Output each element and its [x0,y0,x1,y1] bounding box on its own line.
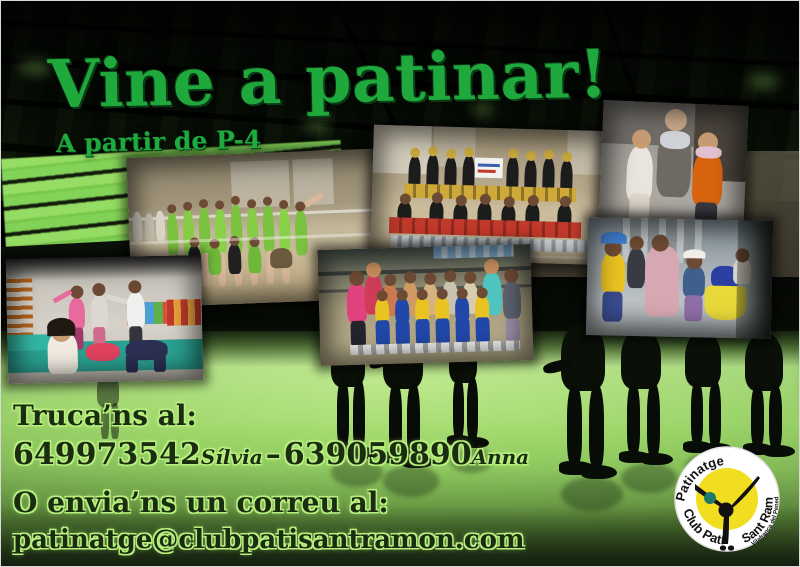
contact-block: Truca’ns al: 649973542Sílvia–639059890An… [13,399,533,557]
logo-teal-dot [704,492,716,504]
phone-numbers-line: 649973542Sílvia–639059890Anna [13,435,533,477]
photo-adult-two-children [598,100,748,232]
club-logo-svg: Patinatge Club Patí Sant Ramon Vilafranc… [668,440,786,558]
poster-root: Vine a patinar! A partir de P-4 Truca’ns… [0,0,800,567]
phone-label: Truca’ns al: [13,399,533,433]
photo-children-blue-yellow-uniforms [317,244,533,366]
page-subtitle: A partir de P-4 [56,125,262,158]
phone-number-2[interactable]: 639059890 [284,437,472,472]
phone-name-1: Sílvia [201,445,263,469]
email-address[interactable]: patinatge@clubpatisantramon.com [13,523,533,557]
phone-name-2: Anna [472,445,530,469]
photo-children-gym-mats [6,255,204,384]
page-title: Vine a patinar! [47,41,608,118]
phone-number-1[interactable]: 649973542 [13,437,201,472]
photo-children-fancy-dress [586,217,773,339]
club-logo[interactable]: Patinatge Club Patí Sant Ramon Vilafranc… [668,440,786,558]
email-label: O envia’ns un correu al: [13,485,533,521]
phone-separator: – [263,437,284,472]
